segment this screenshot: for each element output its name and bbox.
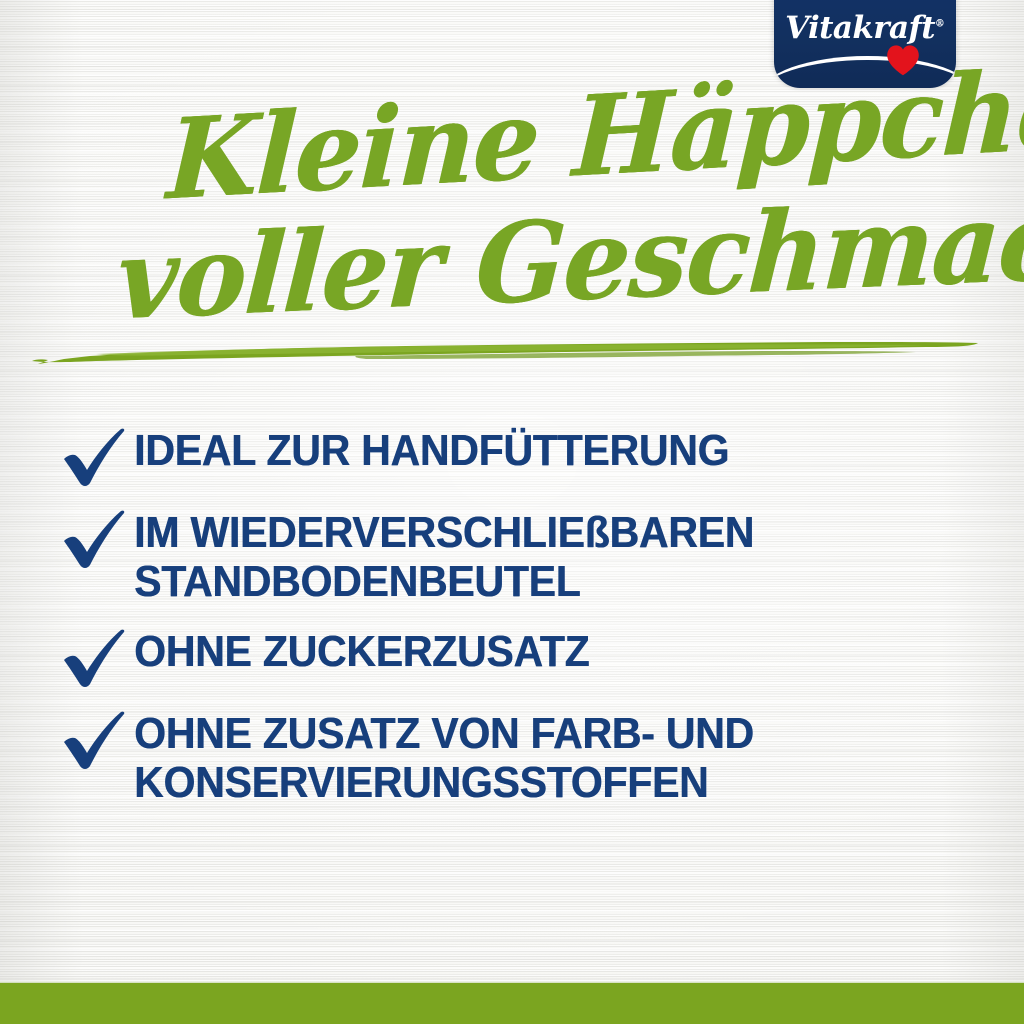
- list-item: IDEAL ZUR HANDFÜTTERUNG: [58, 424, 988, 488]
- list-item-line: KONSERVIERUNGSSTOFFEN: [134, 758, 754, 807]
- list-item: OHNE ZUSATZ VON FARB- UND KONSERVIERUNGS…: [58, 707, 988, 808]
- list-item: OHNE ZUCKERZUSATZ: [58, 625, 988, 689]
- brush-underline: [26, 334, 984, 372]
- list-item-line: STANDBODENBEUTEL: [134, 557, 754, 606]
- list-item-text: IDEAL ZUR HANDFÜTTERUNG: [134, 424, 729, 475]
- check-icon: [58, 709, 130, 771]
- feature-list: IDEAL ZUR HANDFÜTTERUNG IM WIEDERVERSCHL…: [58, 424, 988, 825]
- list-item: IM WIEDERVERSCHLIEßBAREN STANDBODENBEUTE…: [58, 506, 988, 607]
- check-icon: [58, 426, 130, 488]
- list-item-line: OHNE ZUSATZ VON FARB- UND: [134, 709, 754, 758]
- registered-mark: ®: [935, 19, 945, 30]
- check-icon: [58, 627, 130, 689]
- footer-green-bar: [0, 983, 1024, 1024]
- product-claim-banner: Vitakraft® Kleine Häppchen, voller Gesch…: [0, 0, 1024, 1024]
- logo-wordmark: Vitakraft®: [774, 10, 956, 46]
- list-item-text: OHNE ZUSATZ VON FARB- UND KONSERVIERUNGS…: [134, 707, 754, 808]
- logo-wordmark-text: Vitakraft: [785, 10, 935, 46]
- list-item-line: IM WIEDERVERSCHLIEßBAREN: [134, 508, 754, 557]
- check-icon: [58, 508, 130, 570]
- list-item-text: OHNE ZUCKERZUSATZ: [134, 625, 589, 676]
- list-item-line: OHNE ZUCKERZUSATZ: [134, 627, 589, 676]
- list-item-line: IDEAL ZUR HANDFÜTTERUNG: [134, 426, 729, 475]
- list-item-text: IM WIEDERVERSCHLIEßBAREN STANDBODENBEUTE…: [134, 506, 754, 607]
